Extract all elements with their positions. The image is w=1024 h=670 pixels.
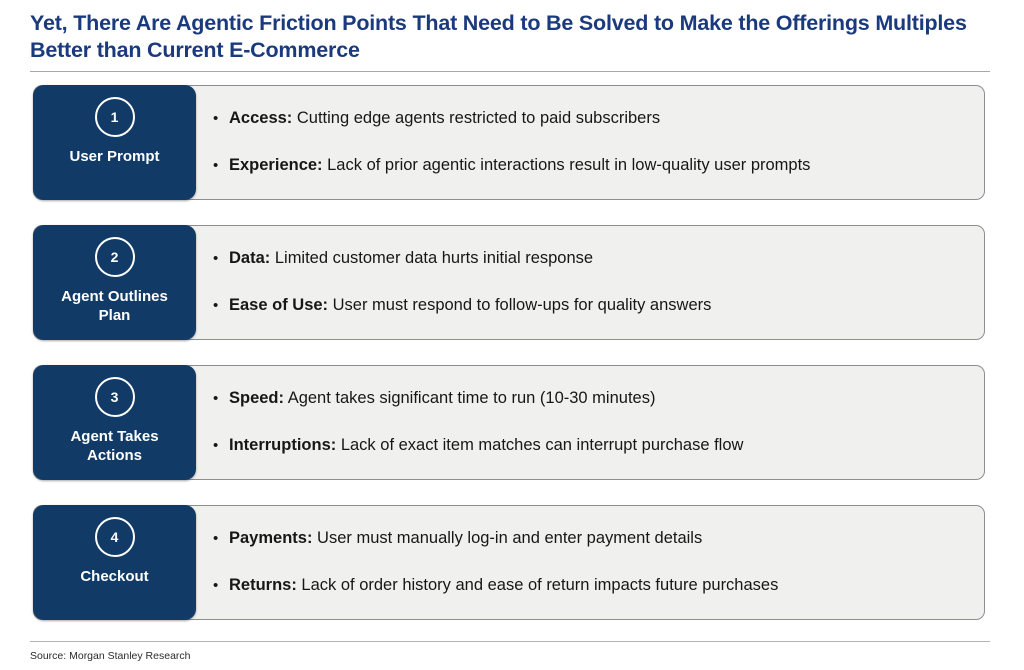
bullet-text: Data: Limited customer data hurts initia…: [229, 249, 971, 269]
bullet-detail: Lack of prior agentic interactions resul…: [323, 156, 811, 174]
bullet-detail: Limited customer data hurts initial resp…: [270, 249, 593, 267]
step-label: Agent Outlines Plan: [53, 288, 176, 326]
bullet-text: Ease of Use: User must respond to follow…: [229, 296, 971, 316]
friction-row: 3 Agent Takes Actions • Speed: Agent tak…: [33, 365, 985, 480]
row-bullets: • Payments: User must manually log-in an…: [213, 505, 971, 620]
list-item: • Speed: Agent takes significant time to…: [213, 389, 971, 409]
step-number: 4: [111, 529, 119, 545]
bullet-point-icon: •: [213, 298, 229, 313]
title-divider: [30, 71, 990, 72]
friction-row: 2 Agent Outlines Plan • Data: Limited cu…: [33, 225, 985, 340]
bullet-term: Ease of Use:: [229, 296, 328, 314]
list-item: • Data: Limited customer data hurts init…: [213, 249, 971, 269]
bullet-term: Interruptions:: [229, 436, 336, 454]
step-number-circle: 3: [95, 377, 135, 417]
step-badge[interactable]: 1 User Prompt: [33, 85, 196, 200]
step-badge[interactable]: 4 Checkout: [33, 505, 196, 620]
step-label: User Prompt: [61, 148, 167, 167]
bullet-term: Data:: [229, 249, 270, 267]
source-note: Source: Morgan Stanley Research: [30, 650, 990, 662]
slide-footer: Source: Morgan Stanley Research: [30, 641, 990, 662]
list-item: • Returns: Lack of order history and eas…: [213, 576, 971, 596]
step-badge[interactable]: 3 Agent Takes Actions: [33, 365, 196, 480]
bullet-point-icon: •: [213, 438, 229, 453]
list-item: • Ease of Use: User must respond to foll…: [213, 296, 971, 316]
bullet-detail: User must manually log-in and enter paym…: [312, 529, 702, 547]
friction-row: 4 Checkout • Payments: User must manuall…: [33, 505, 985, 620]
step-badge[interactable]: 2 Agent Outlines Plan: [33, 225, 196, 340]
bullet-point-icon: •: [213, 111, 229, 126]
bullet-term: Speed:: [229, 389, 284, 407]
bullet-detail: Lack of order history and ease of return…: [297, 576, 779, 594]
step-number: 2: [111, 249, 119, 265]
bullet-point-icon: •: [213, 251, 229, 266]
friction-row: 1 User Prompt • Access: Cutting edge age…: [33, 85, 985, 200]
bullet-text: Speed: Agent takes significant time to r…: [229, 389, 971, 409]
bullet-text: Interruptions: Lack of exact item matche…: [229, 436, 971, 456]
slide-header: Yet, There Are Agentic Friction Points T…: [0, 0, 1024, 72]
bullet-term: Access:: [229, 109, 292, 127]
list-item: • Payments: User must manually log-in an…: [213, 529, 971, 549]
bullet-term: Payments:: [229, 529, 312, 547]
bullet-term: Returns:: [229, 576, 297, 594]
bullet-detail: Agent takes significant time to run (10-…: [284, 389, 655, 407]
step-number-circle: 1: [95, 97, 135, 137]
bullet-point-icon: •: [213, 158, 229, 173]
list-item: • Interruptions: Lack of exact item matc…: [213, 436, 971, 456]
row-bullets: • Access: Cutting edge agents restricted…: [213, 85, 971, 200]
step-number-circle: 2: [95, 237, 135, 277]
bullet-detail: Cutting edge agents restricted to paid s…: [292, 109, 660, 127]
bullet-text: Returns: Lack of order history and ease …: [229, 576, 971, 596]
step-label: Checkout: [72, 568, 156, 587]
bullet-term: Experience:: [229, 156, 323, 174]
footer-divider: [30, 641, 990, 642]
friction-points-list: 1 User Prompt • Access: Cutting edge age…: [0, 85, 1024, 620]
bullet-text: Access: Cutting edge agents restricted t…: [229, 109, 971, 129]
list-item: • Experience: Lack of prior agentic inte…: [213, 156, 971, 176]
bullet-point-icon: •: [213, 531, 229, 546]
bullet-text: Experience: Lack of prior agentic intera…: [229, 156, 971, 176]
step-label: Agent Takes Actions: [62, 428, 166, 466]
row-bullets: • Data: Limited customer data hurts init…: [213, 225, 971, 340]
bullet-detail: Lack of exact item matches can interrupt…: [336, 436, 743, 454]
bullet-detail: User must respond to follow-ups for qual…: [328, 296, 711, 314]
step-number: 1: [111, 109, 119, 125]
list-item: • Access: Cutting edge agents restricted…: [213, 109, 971, 129]
step-number-circle: 4: [95, 517, 135, 557]
step-number: 3: [111, 389, 119, 405]
bullet-text: Payments: User must manually log-in and …: [229, 529, 971, 549]
bullet-point-icon: •: [213, 578, 229, 593]
bullet-point-icon: •: [213, 391, 229, 406]
row-bullets: • Speed: Agent takes significant time to…: [213, 365, 971, 480]
page-title: Yet, There Are Agentic Friction Points T…: [30, 10, 975, 64]
